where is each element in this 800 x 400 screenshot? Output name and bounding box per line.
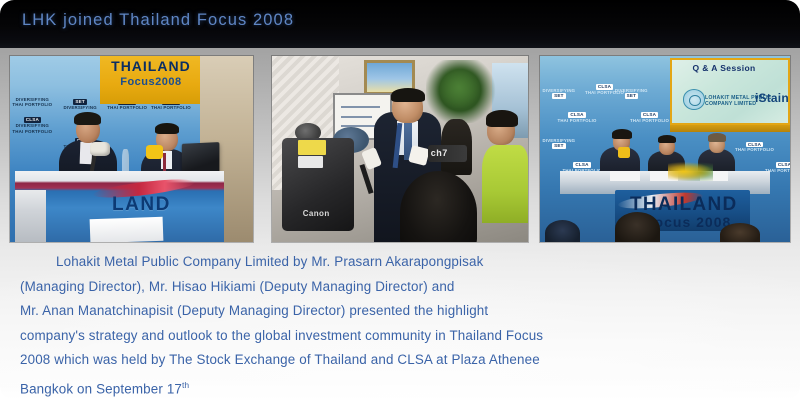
caption-line-2: (Managing Director), Mr. Hisao Hikiami (… (20, 275, 782, 300)
camera-label-tag (298, 156, 324, 167)
logo-line-1: DIVERSIFYING (615, 88, 648, 93)
logo-line-3: THAI PORTFOLIO (12, 129, 52, 134)
audience-head (615, 212, 660, 242)
audience-head (720, 223, 760, 242)
logo-line-3: THAI PORTFOLIO (558, 118, 597, 123)
backdrop-logo: DIVERSIFYING SET (543, 88, 576, 99)
slide-page: LHK joined Thailand Focus 2008 CLSA DIVE… (0, 0, 800, 400)
backdrop-logo: SET DIVERSIFYING (63, 99, 96, 110)
backdrop-logo: CLSA THAI PORTFOLIO (735, 142, 774, 153)
caption-line-4: company's strategy and outlook to the gl… (20, 324, 782, 349)
microphone-1 (90, 142, 109, 157)
logo-line-1: DIVERSIFYING (543, 138, 576, 143)
speaker-2-hair (155, 123, 179, 134)
panelist-2-hair (658, 135, 677, 143)
set-logo-text: SET (552, 143, 566, 149)
mic-flag-label: ch7 (431, 148, 448, 158)
interviewee-hair (391, 88, 425, 103)
flower-arrangement (668, 162, 713, 181)
slide-title: Q & A Session (693, 63, 756, 73)
backdrop-logo: CLSA THAI PORTFOLIO (630, 112, 669, 123)
logo-line-3: THAI PORTFOLIO (630, 118, 669, 123)
logo-line-3: THAI PORTFOLIO (107, 105, 147, 110)
table-side-panel (15, 190, 47, 242)
caption-line-5: 2008 which was held by The Stock Exchang… (20, 348, 782, 373)
audience-head (545, 220, 580, 242)
logo-line-1: DIVERSIFYING (63, 105, 96, 110)
logo-line-1: DIVERSIFYING (16, 97, 49, 102)
panelist-1-microphone (618, 147, 631, 158)
screen-bottom-strip (670, 125, 790, 132)
laptop (182, 142, 220, 174)
banner-title: THAILAND (107, 58, 194, 74)
logo-line-3: THAI PORTFOLIO (735, 147, 774, 152)
foreground-papers (90, 217, 164, 242)
signboard-text-line (341, 106, 379, 108)
page-title: LHK joined Thailand Focus 2008 (22, 11, 294, 30)
slide-product-name: iStain (755, 91, 789, 105)
company-logo-icon (683, 89, 706, 109)
microphone-2 (146, 145, 163, 159)
backdrop-logo: DIVERSIFYING SET (543, 138, 576, 149)
logo-line-1: DIVERSIFYING (16, 123, 49, 128)
signboard-text-line (341, 116, 372, 118)
set-logo-text: SET (552, 93, 566, 99)
page-header: LHK joined Thailand Focus 2008 (0, 0, 800, 48)
reporter-green-shirt (482, 145, 528, 223)
caption-line-6: Bangkok on September 17th (20, 373, 782, 400)
foreground-persons-head (400, 171, 477, 242)
logo-line-3: THAI PORTFOLIO (151, 105, 191, 110)
caption-line-6-text: Bangkok on September 17 (20, 381, 182, 396)
speaker-2-tie (163, 153, 167, 172)
caption-line-1: Lohakit Metal Public Company Limited by … (20, 250, 782, 275)
reporter-green-hair (486, 110, 518, 127)
photo-media-interview-scrum[interactable]: Canon ch7 (272, 56, 528, 242)
photo-strip: CLSA DIVERSIFYING THAI PORTFOLIO SET DIV… (0, 48, 800, 244)
backdrop-logo: CLSA THAI PORTFOLIO (558, 112, 597, 123)
logo-line-1: DIVERSIFYING (543, 88, 576, 93)
photo-qa-session-panel[interactable]: DIVERSIFYING SET CLSA THAI PORTFOLIO DIV… (540, 56, 790, 242)
panelist-name-card (610, 171, 640, 180)
logo-line-3: THAI PORTFOLIO (12, 102, 52, 107)
caption-line-3: Mr. Anan Manatchinapisit (Deputy Managin… (20, 299, 782, 324)
caption-block: Lohakit Metal Public Company Limited by … (0, 250, 800, 400)
banner-subtitle: Focus2008 (107, 76, 194, 88)
backdrop-logo: DIVERSIFYING SET (615, 88, 648, 99)
photo-press-conference-two-speakers[interactable]: CLSA DIVERSIFYING THAI PORTFOLIO SET DIV… (10, 56, 253, 242)
backdrop-logo: DIVERSIFYING THAI PORTFOLIO (12, 97, 52, 108)
potted-plant-highlight (436, 67, 482, 108)
caption-ordinal-suffix: th (182, 380, 189, 390)
panelist-3-hair (708, 133, 727, 141)
camera-press-tag (298, 140, 326, 155)
camera-brand-label: Canon (303, 209, 330, 218)
speaker-1-hair (74, 112, 101, 125)
panelist-1-hair (612, 129, 632, 138)
set-logo-text: SET (625, 93, 639, 99)
table-banner-text-1: LAND (112, 194, 171, 216)
backdrop-logo: CLSA DIVERSIFYING THAI PORTFOLIO (12, 117, 52, 134)
